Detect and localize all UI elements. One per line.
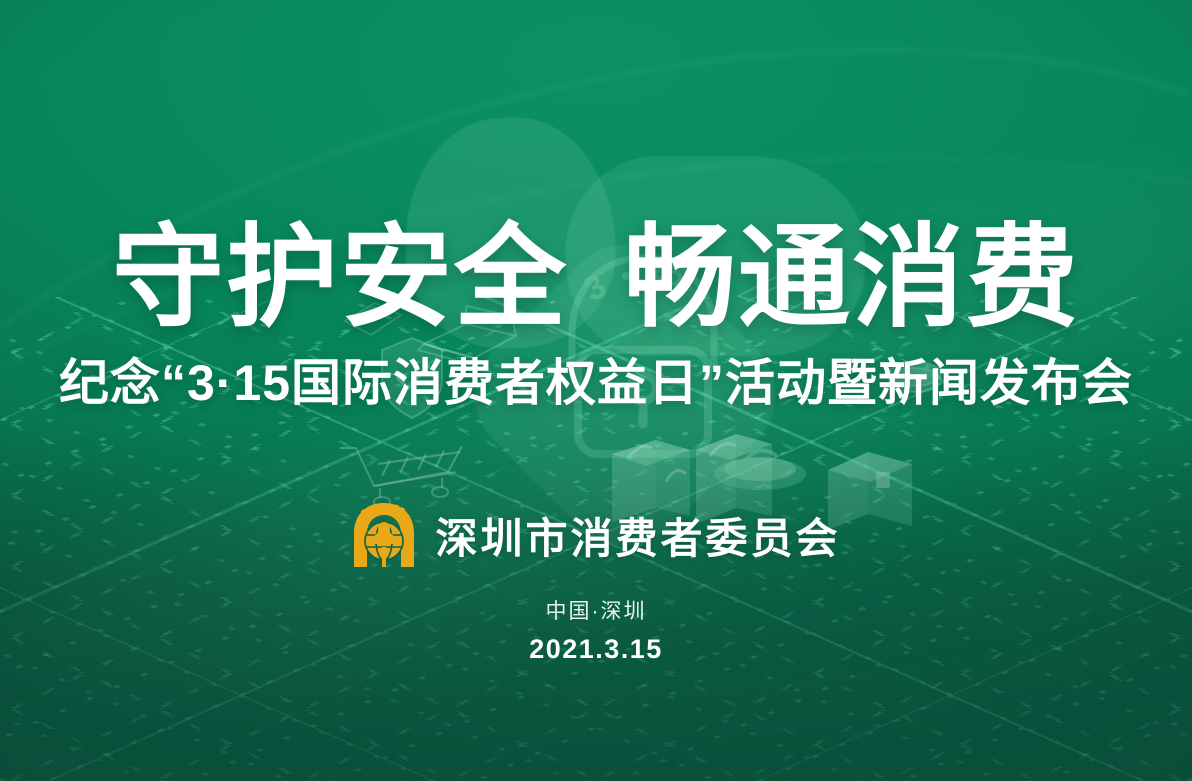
main-headline: 守护安全 畅通消费 xyxy=(112,222,1080,334)
event-location: 中国·深圳 xyxy=(546,595,647,625)
event-date: 2021.3.15 xyxy=(529,634,663,665)
headline-part-1: 守护安全 xyxy=(112,222,568,334)
poster-content: 守护安全 畅通消费 纪念“3·15国际消费者权益日”活动暨新闻发布会 3 15 xyxy=(0,0,1192,781)
consumer-council-315-logo-icon: 3 15 xyxy=(351,501,417,569)
subheadline: 纪念“3·15国际消费者权益日”活动暨新闻发布会 xyxy=(59,356,1133,411)
headline-part-2: 畅通消费 xyxy=(624,222,1080,334)
organization-name: 深圳市消费者委员会 xyxy=(435,505,840,566)
poster-canvas: 3 15 xyxy=(0,0,1192,781)
organization-block: 3 15 深圳市消费者委员会 xyxy=(351,501,840,569)
